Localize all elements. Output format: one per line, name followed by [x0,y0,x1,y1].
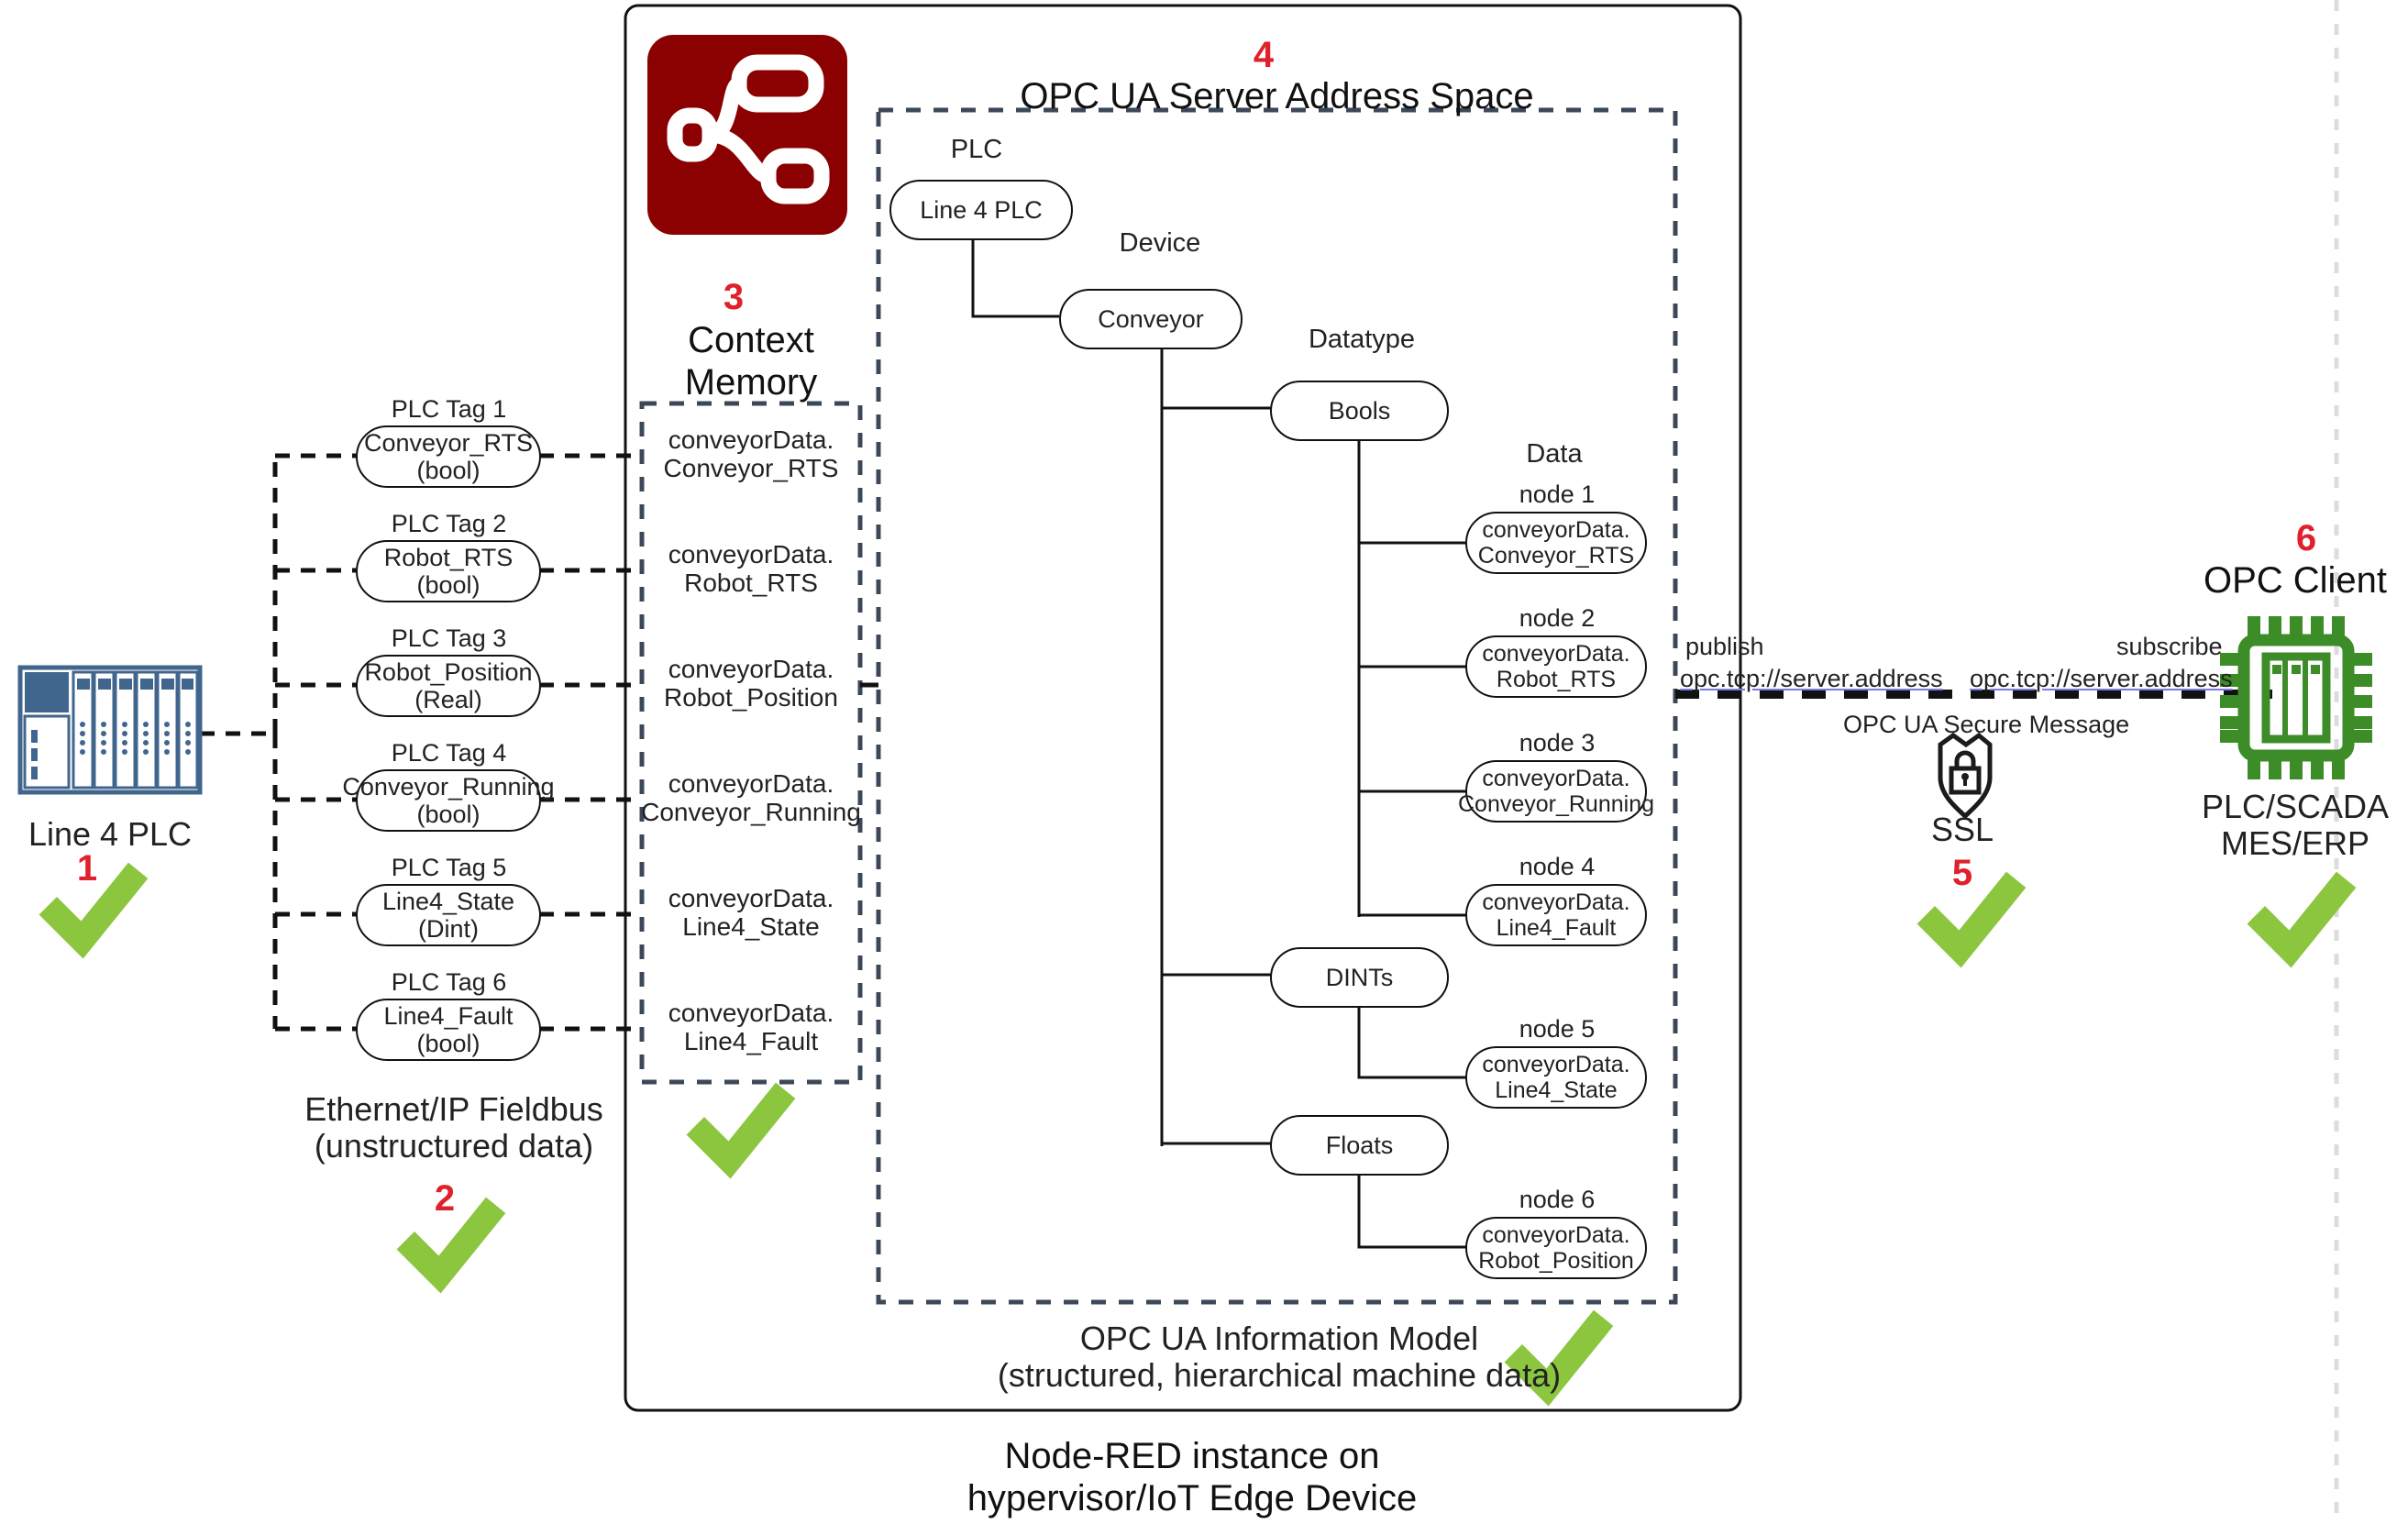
plc-tag-2-node[interactable]: Robot_RTS (bool) [356,540,541,602]
plc-tag-6-node[interactable]: Line4_Fault (bool) [356,999,541,1061]
address-space-title: OPC UA Server Address Space [878,75,1675,117]
plc-tag-1-caption: PLC Tag 1 [350,396,547,424]
plc-tag-5-type: (Dint) [418,915,479,943]
data-node-2[interactable]: conveyorData. Robot_RTS [1465,635,1647,698]
plc-tag-6-caption: PLC Tag 6 [350,969,547,997]
context-memory-title-line2: Memory [685,362,817,403]
plc-rack-icon [20,668,200,792]
opc-client-title: OPC Client [2182,559,2408,602]
data-caption: Data [1463,440,1646,469]
node-red-footer: Node-RED instance on hypervisor/IoT Edge… [899,1435,1486,1519]
data-node-6-line2: Robot_Position [1478,1248,1634,1274]
data-node-1-line1: conveyorData. [1482,517,1629,543]
data-node-5-line1: conveyorData. [1482,1052,1629,1077]
plc-label: Line 4 PLC [0,816,220,853]
fieldbus-label-line1: Ethernet/IP Fieldbus [304,1090,603,1128]
plc-tag-2-name: Robot_RTS [384,544,514,571]
step-number-1: 1 [69,848,105,889]
data-node-5-line2: Line4_State [1495,1077,1617,1103]
information-model-footer: OPC UA Information Model (structured, hi… [917,1320,1641,1393]
node-red-logo [647,35,847,235]
subscribe-label: subscribe [2116,633,2223,661]
plc-tag-2-type: (bool) [416,571,480,599]
plc-tag-2-caption: PLC Tag 2 [350,511,547,538]
data-node-2-line1: conveyorData. [1482,641,1629,667]
data-node-6-line1: conveyorData. [1482,1222,1629,1248]
data-node-2-line2: Robot_RTS [1497,667,1616,692]
data-node-3-line1: conveyorData. [1482,766,1629,791]
data-node-5[interactable]: conveyorData. Line4_State [1465,1046,1647,1109]
data-node-5-caption: node 5 [1465,1016,1649,1044]
subscribe-url-text: opc.tcp://server.address [1970,665,2233,692]
context-entry-6: conveyorData. Line4_Fault [642,999,860,1056]
plc-tag-1-name: Conveyor_RTS [364,429,533,457]
context-memory-box [642,403,860,1082]
plc-tag-4-node[interactable]: Conveyor_Running (bool) [356,769,541,832]
context-entry-3-line2: Robot_Position [664,683,838,712]
context-entry-1-line2: Conveyor_RTS [664,454,839,482]
fieldbus-label: Ethernet/IP Fieldbus (unstructured data) [284,1091,624,1164]
plc-tag-3-caption: PLC Tag 3 [350,625,547,653]
plc-tag-6-name: Line4_Fault [383,1002,513,1030]
context-entry-4-line1: conveyorData. [668,769,834,798]
context-entry-1: conveyorData. Conveyor_RTS [642,425,860,483]
datatype-node-bools-label: Bools [1329,397,1391,425]
plc-tag-5-node[interactable]: Line4_State (Dint) [356,884,541,946]
step-number-6: 6 [2288,518,2325,559]
context-entry-5: conveyorData. Line4_State [642,884,860,942]
datatype-node-floats[interactable]: Floats [1270,1115,1449,1176]
node-red-footer-line2: hypervisor/IoT Edge Device [967,1478,1418,1518]
step-number-2: 2 [426,1178,463,1220]
plc-tag-4-type: (bool) [416,801,480,828]
data-node-4-caption: node 4 [1465,854,1649,881]
node-red-footer-line1: Node-RED instance on [1004,1436,1379,1476]
context-entry-1-line1: conveyorData. [668,425,834,454]
plc-tag-3-node[interactable]: Robot_Position (Real) [356,655,541,717]
data-node-3[interactable]: conveyorData. Conveyor_Running [1465,760,1647,823]
context-memory-title-line1: Context [688,320,814,360]
plc-tag-4-caption: PLC Tag 4 [350,740,547,768]
publish-url[interactable]: opc.tcp://server.address [1680,665,1943,693]
context-memory-title: Context Memory [633,319,869,403]
context-entry-2: conveyorData. Robot_RTS [642,540,860,598]
datatype-node-floats-label: Floats [1326,1132,1394,1159]
opc-client-subtitle: PLC/SCADA MES/ERP [2182,789,2408,861]
checkmark-6 [2265,889,2338,949]
context-entry-3-line1: conveyorData. [668,655,834,683]
subscribe-url[interactable]: opc.tcp://server.address [1970,665,2233,693]
address-space-plc-node-label: Line 4 PLC [920,196,1043,224]
context-entry-2-line1: conveyorData. [668,540,834,569]
data-node-4-line2: Line4_Fault [1497,915,1617,941]
data-node-2-caption: node 2 [1465,605,1649,633]
plc-tag-3-type: (Real) [414,686,482,713]
information-model-footer-line1: OPC UA Information Model [1080,1320,1478,1357]
address-space-plc-caption: PLC [917,136,1036,165]
data-node-1-caption: node 1 [1465,481,1649,509]
context-entry-6-line2: Line4_Fault [684,1027,818,1055]
plc-tag-1-node[interactable]: Conveyor_RTS (bool) [356,425,541,488]
plc-tag-6-type: (bool) [416,1030,480,1057]
context-entry-6-line1: conveyorData. [668,999,834,1027]
context-entry-2-line2: Robot_RTS [684,569,818,597]
step-number-5: 5 [1944,853,1981,894]
data-node-6[interactable]: conveyorData. Robot_Position [1465,1217,1647,1279]
plc-tag-1-type: (bool) [416,457,480,484]
data-node-1[interactable]: conveyorData. Conveyor_RTS [1465,512,1647,574]
context-entry-4-line2: Conveyor_Running [641,798,861,826]
ssl-shield-lock-icon [1940,735,1990,816]
information-model-footer-line2: (structured, hierarchical machine data) [998,1356,1561,1394]
ssl-label: SSL [1898,812,2027,848]
step-number-3: 3 [715,277,752,318]
address-space-plc-node[interactable]: Line 4 PLC [889,180,1073,240]
plc-tag-5-name: Line4_State [382,888,514,915]
address-space-device-node-label: Conveyor [1098,305,1204,333]
context-entry-5-line1: conveyorData. [668,884,834,912]
data-node-1-line2: Conveyor_RTS [1478,543,1634,569]
address-space-device-caption: Device [1077,229,1243,259]
plc-tag-3-name: Robot_Position [364,658,532,686]
context-entry-5-line2: Line4_State [682,912,819,941]
data-node-4[interactable]: conveyorData. Line4_Fault [1465,884,1647,946]
cpu-chip-icon [2220,616,2372,779]
checkmark-2 [414,1215,488,1275]
plc-tag-5-caption: PLC Tag 5 [350,855,547,882]
opc-client-subtitle-line1: PLC/SCADA [2202,788,2389,825]
publish-url-text: opc.tcp://server.address [1680,665,1943,692]
data-node-3-caption: node 3 [1465,730,1649,757]
checkmark-5 [1935,889,2008,949]
datatype-node-dints[interactable]: DINTs [1270,947,1449,1008]
data-node-4-line1: conveyorData. [1482,889,1629,915]
datatype-node-dints-label: DINTs [1326,964,1394,991]
datatype-caption: Datatype [1270,326,1453,355]
opc-client-subtitle-line2: MES/ERP [2221,824,2369,862]
data-node-6-caption: node 6 [1465,1187,1649,1214]
data-node-3-line2: Conveyor_Running [1458,791,1654,817]
context-entry-3: conveyorData. Robot_Position [642,655,860,712]
plc-tag-4-name: Conveyor_Running [342,773,554,801]
context-entry-4: conveyorData. Conveyor_Running [638,769,864,827]
datatype-node-bools[interactable]: Bools [1270,381,1449,441]
step-number-4: 4 [1245,35,1282,76]
address-space-device-node[interactable]: Conveyor [1059,289,1243,349]
secure-message-label: OPC UA Secure Message [1843,711,2129,739]
checkmark-3 [704,1100,778,1160]
address-space-box [878,110,1675,1302]
fieldbus-label-line2: (unstructured data) [315,1127,593,1165]
publish-label: publish [1685,633,1764,661]
